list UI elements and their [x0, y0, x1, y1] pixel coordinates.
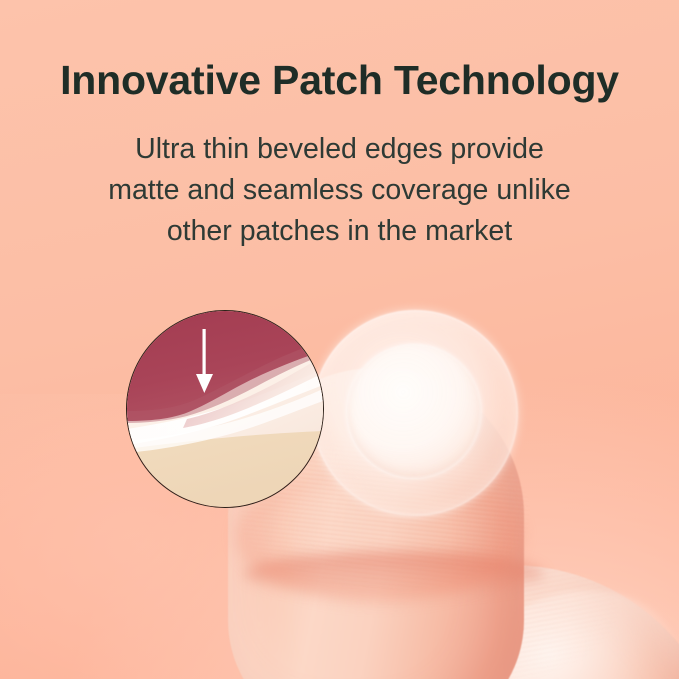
- cross-section-diagram: [127, 311, 323, 507]
- patch-core-disc: [347, 344, 481, 478]
- promo-image-canvas: Innovative Patch Technology Ultra thin b…: [0, 0, 679, 679]
- subtitle-line-2: matte and seamless coverage unlike: [0, 170, 679, 211]
- subtitle-line-1: Ultra thin beveled edges provide: [0, 129, 679, 170]
- magnified-cross-section: [126, 310, 324, 508]
- subtitle-line-3: other patches in the market: [0, 211, 679, 252]
- page-title: Innovative Patch Technology: [0, 56, 679, 104]
- page-subtitle: Ultra thin beveled edges provide matte a…: [0, 129, 679, 251]
